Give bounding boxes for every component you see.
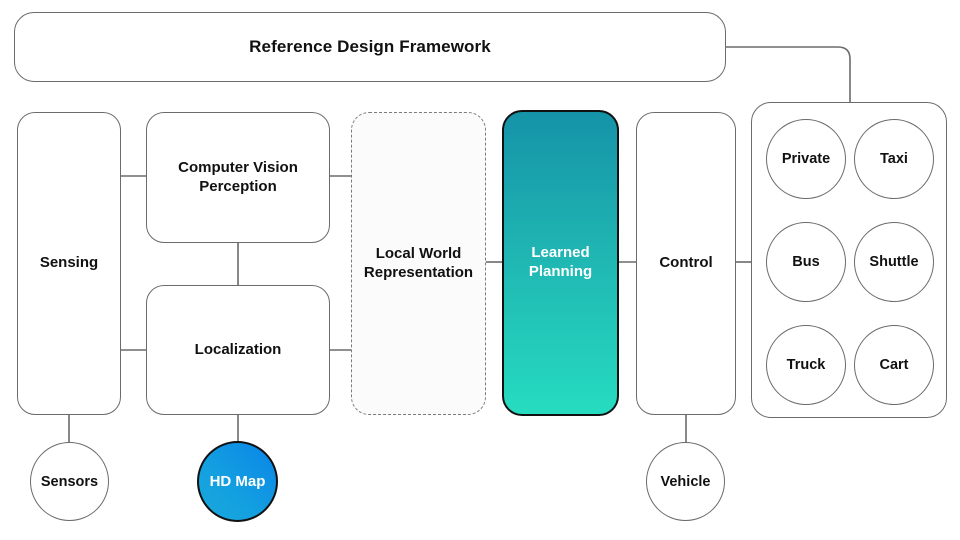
vehicle-type-label: Taxi (880, 150, 908, 168)
reference-design-framework-banner[interactable]: Reference Design Framework (14, 12, 726, 82)
vehicle-types-container: Private Taxi Bus Shuttle Truck Cart (751, 102, 947, 418)
wire-banner-to-vehicles (726, 47, 850, 102)
sensors-label: Sensors (41, 474, 98, 490)
vehicle-type-label: Bus (792, 253, 819, 271)
leaf-node-vehicle[interactable]: Vehicle (646, 442, 725, 521)
stage-sensing[interactable]: Sensing (17, 112, 121, 415)
learned-planning-label: Learned Planning (504, 244, 617, 282)
vehicle-type-label: Private (782, 150, 830, 168)
vehicle-type-truck[interactable]: Truck (766, 325, 846, 405)
vehicle-type-label: Cart (879, 356, 908, 374)
vehicle-types-grid: Private Taxi Bus Shuttle Truck Cart (752, 103, 948, 419)
stage-learned-planning[interactable]: Learned Planning (502, 110, 619, 416)
vehicle-type-label: Shuttle (869, 253, 918, 271)
localization-label: Localization (195, 341, 282, 360)
vehicle-type-label: Truck (787, 356, 826, 374)
vehicle-type-taxi[interactable]: Taxi (854, 119, 934, 199)
sensing-label: Sensing (40, 254, 98, 273)
stage-localization[interactable]: Localization (146, 285, 330, 415)
vehicle-type-shuttle[interactable]: Shuttle (854, 222, 934, 302)
leaf-node-sensors[interactable]: Sensors (30, 442, 109, 521)
stage-computer-vision-perception[interactable]: Computer Vision Perception (146, 112, 330, 243)
computer-vision-label: Computer Vision Perception (147, 159, 329, 197)
leaf-node-hd-map[interactable]: HD Map (197, 441, 278, 522)
hd-map-label: HD Map (210, 473, 266, 490)
local-world-representation-label: Local World Representation (352, 245, 485, 283)
banner-label: Reference Design Framework (249, 36, 491, 57)
diagram-canvas: Reference Design Framework Sensing Compu… (0, 0, 960, 540)
stage-control[interactable]: Control (636, 112, 736, 415)
vehicle-type-private[interactable]: Private (766, 119, 846, 199)
control-label: Control (659, 254, 712, 273)
vehicle-type-cart[interactable]: Cart (854, 325, 934, 405)
vehicle-type-bus[interactable]: Bus (766, 222, 846, 302)
stage-local-world-representation[interactable]: Local World Representation (351, 112, 486, 415)
vehicle-label: Vehicle (661, 474, 711, 490)
